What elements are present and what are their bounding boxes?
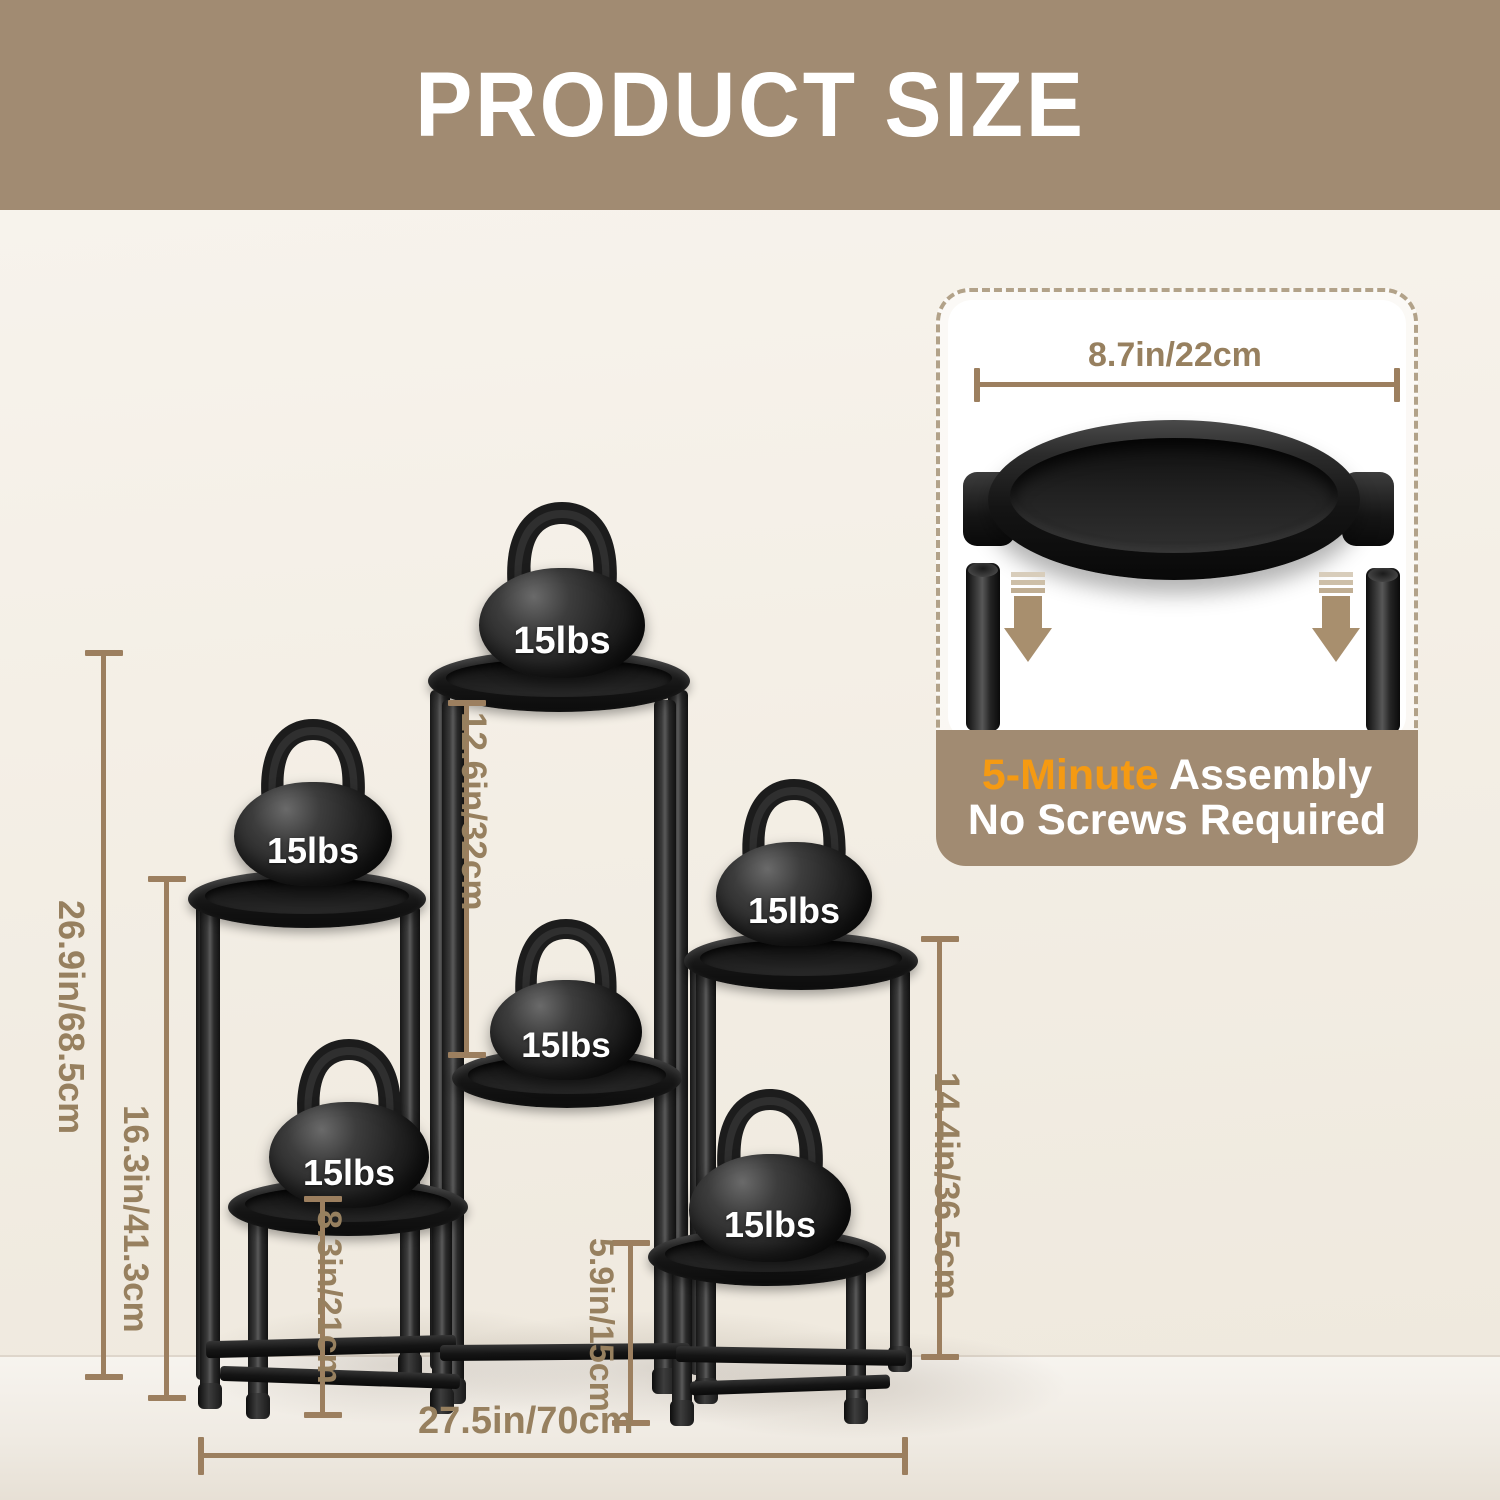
- kettlebell-weight-label: 15lbs: [678, 1204, 862, 1246]
- inset-dim-label-tray-diameter: 8.7in/22cm: [1088, 336, 1262, 375]
- dim-label-lower-left-height: 8.3in/21cm: [309, 1210, 348, 1384]
- assembly-time-highlight: 5-Minute: [982, 751, 1159, 799]
- dim-label-left-column-height: 16.3in/41.3cm: [115, 1105, 155, 1333]
- kettlebell-lower-left: 15lbs: [258, 1028, 440, 1206]
- lower-right-leg-right: [846, 1262, 866, 1420]
- kettlebell-weight-label: 15lbs: [704, 890, 884, 932]
- kettlebell-lower-right: 15lbs: [678, 1078, 862, 1258]
- upper-left-leg-front-left: [200, 905, 220, 1405]
- assembly-arrow-left-icon: [1000, 570, 1056, 666]
- dim-line-total-width: [198, 1453, 908, 1458]
- dim-label-lower-right-height: 5.9in/15cm: [581, 1238, 620, 1412]
- detached-tray: [988, 420, 1360, 580]
- inset-dim-line-tray-diameter: [974, 382, 1400, 387]
- assembly-tube-left: [966, 563, 1000, 731]
- assembly-badge-line-1: 5-Minute Assembly: [982, 753, 1372, 798]
- product-size-infographic: PRODUCT SIZE: [0, 0, 1500, 1500]
- detached-tray-basin: [1010, 438, 1337, 553]
- assembly-badge-line-2: No Screws Required: [968, 798, 1386, 843]
- page-title: PRODUCT SIZE: [415, 59, 1085, 151]
- kettlebell-top-center: 15lbs: [466, 490, 658, 670]
- dim-label-total-width: 27.5in/70cm: [418, 1400, 633, 1443]
- kettlebell-weight-label: 15lbs: [258, 1152, 440, 1194]
- kettlebell-upper-right: 15lbs: [704, 768, 884, 944]
- dim-line-lower-right-height: [628, 1240, 633, 1426]
- dim-line-total-height: [101, 650, 106, 1380]
- upper-right-leg-front-right: [890, 968, 910, 1368]
- header-banner: PRODUCT SIZE: [0, 0, 1500, 210]
- dim-label-total-height: 26.9in/68.5cm: [50, 900, 92, 1134]
- dim-line-left-column-height: [164, 876, 169, 1401]
- kettlebell-upper-left: 15lbs: [222, 708, 404, 884]
- assembly-badge: 5-Minute Assembly No Screws Required: [936, 730, 1418, 866]
- kettlebell-weight-label: 15lbs: [222, 830, 404, 872]
- kettlebell-weight-label: 15lbs: [478, 1026, 654, 1066]
- kettlebell-weight-label: 15lbs: [466, 620, 658, 663]
- base-rail-center: [440, 1343, 690, 1361]
- assembly-tube-right: [1366, 568, 1400, 733]
- assembly-arrow-right-icon: [1308, 570, 1364, 666]
- kettlebell-middle-center: 15lbs: [478, 908, 654, 1080]
- lower-left-leg-left: [248, 1215, 268, 1415]
- assembly-badge-line-1-rest: Assembly: [1159, 751, 1373, 799]
- dim-label-center-tier-gap: 12.6in/32cm: [453, 712, 493, 910]
- dim-label-right-column-height: 14.4in/36.5cm: [926, 1072, 966, 1300]
